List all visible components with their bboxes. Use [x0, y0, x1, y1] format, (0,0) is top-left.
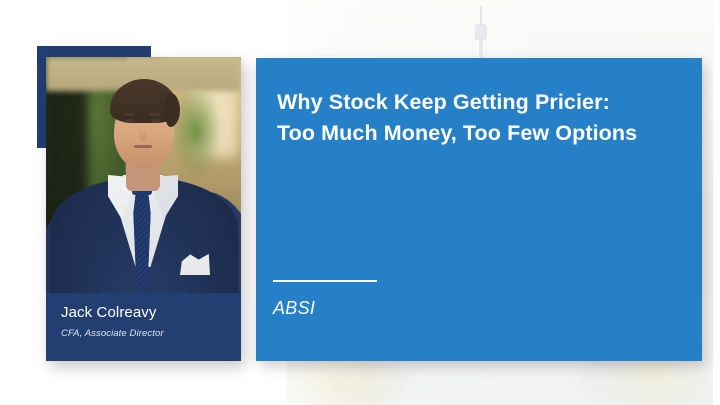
page-title: Why Stock Keep Getting Pricier: Too Much…: [277, 87, 681, 149]
speaker-card: Jack Colreavy CFA, Associate Director: [46, 57, 241, 361]
avatar: [46, 57, 241, 293]
page-title-line-2: Too Much Money, Too Few Options: [277, 118, 681, 149]
speaker-name: Jack Colreavy: [61, 304, 157, 321]
divider: [273, 280, 377, 282]
title-panel: Why Stock Keep Getting Pricier: Too Much…: [256, 58, 702, 361]
speaker-name-plate: Jack Colreavy CFA, Associate Director: [46, 293, 241, 361]
brand-label: ABSI: [273, 298, 315, 319]
page-title-line-1: Why Stock Keep Getting Pricier:: [277, 90, 610, 114]
speaker-role: CFA, Associate Director: [61, 328, 164, 339]
presentation-slide: Jack Colreavy CFA, Associate Director Wh…: [0, 0, 720, 405]
